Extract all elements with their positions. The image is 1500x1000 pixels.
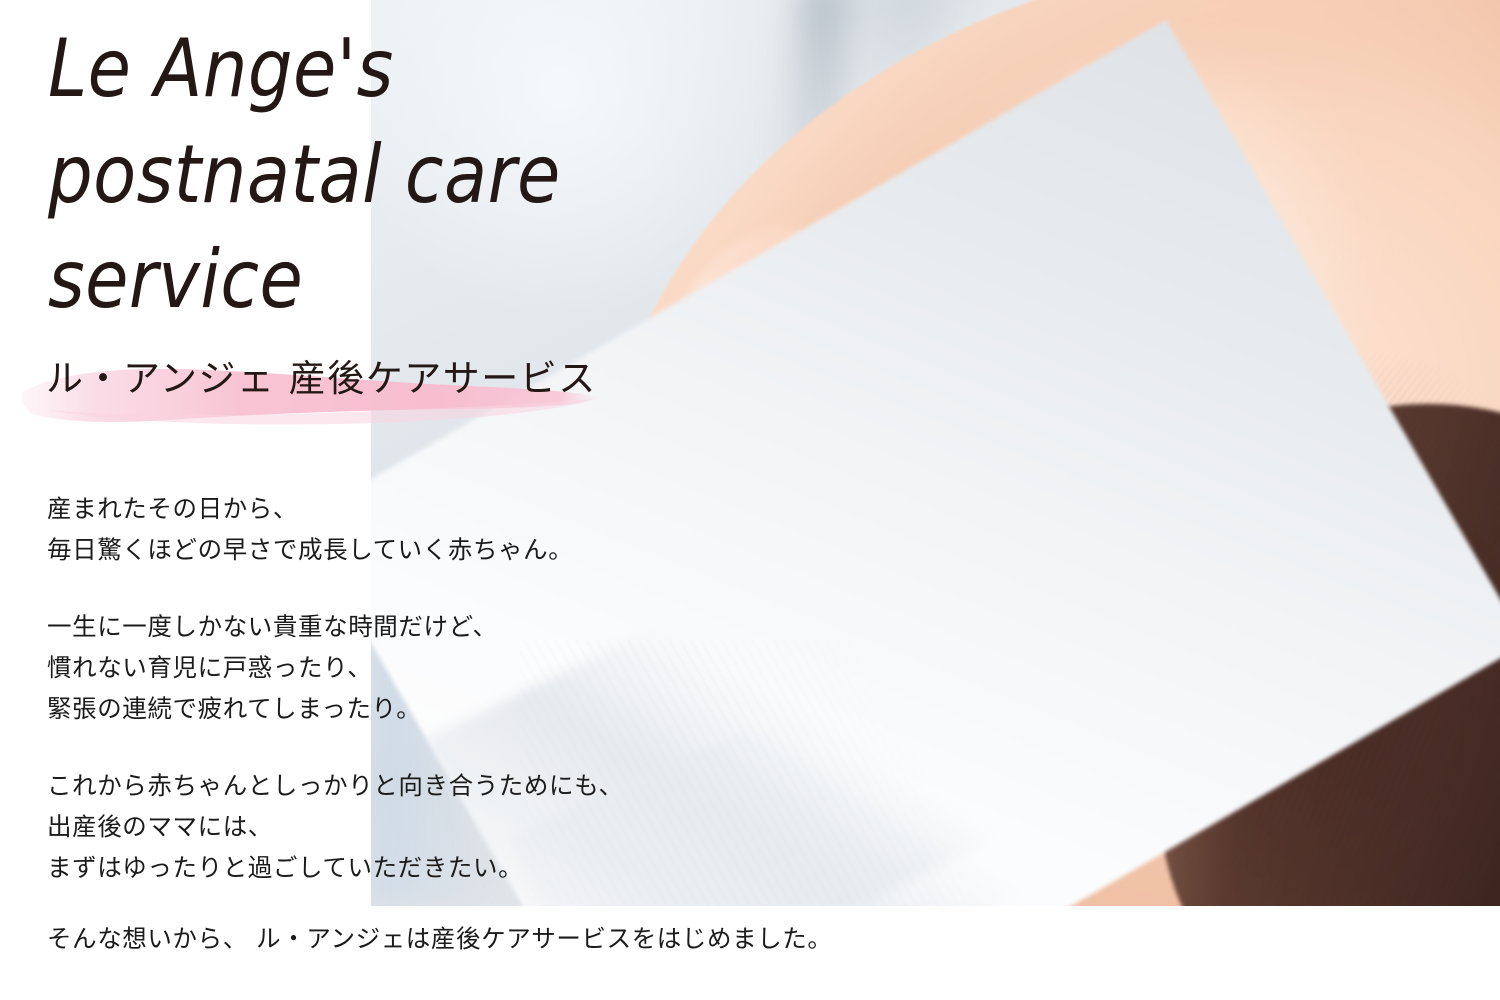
hero-content: Le Ange's postnatal care service ル・アンジェ … (0, 0, 1500, 1000)
body-paragraph-1: 産まれたその日から、 毎日驚くほどの早さで成長していく赤ちゃん。 (47, 488, 573, 570)
body-paragraph-2: 一生に一度しかない貴重な時間だけど、 慣れない育児に戸惑ったり、 緊張の連続で疲… (47, 606, 498, 729)
body-paragraph-3: これから赤ちゃんとしっかりと向き合うためにも、 出産後のママには、 まずはゆった… (47, 765, 624, 888)
page-title: Le Ange's postnatal care service (48, 16, 928, 333)
body-paragraph-4: そんな想いから、 ル・アンジェは産後ケアサービスをはじめました。 (47, 918, 833, 959)
hero-banner: Le Ange's postnatal care service ル・アンジェ … (0, 0, 1500, 1000)
page-subtitle: ル・アンジェ 産後ケアサービス (46, 348, 597, 402)
